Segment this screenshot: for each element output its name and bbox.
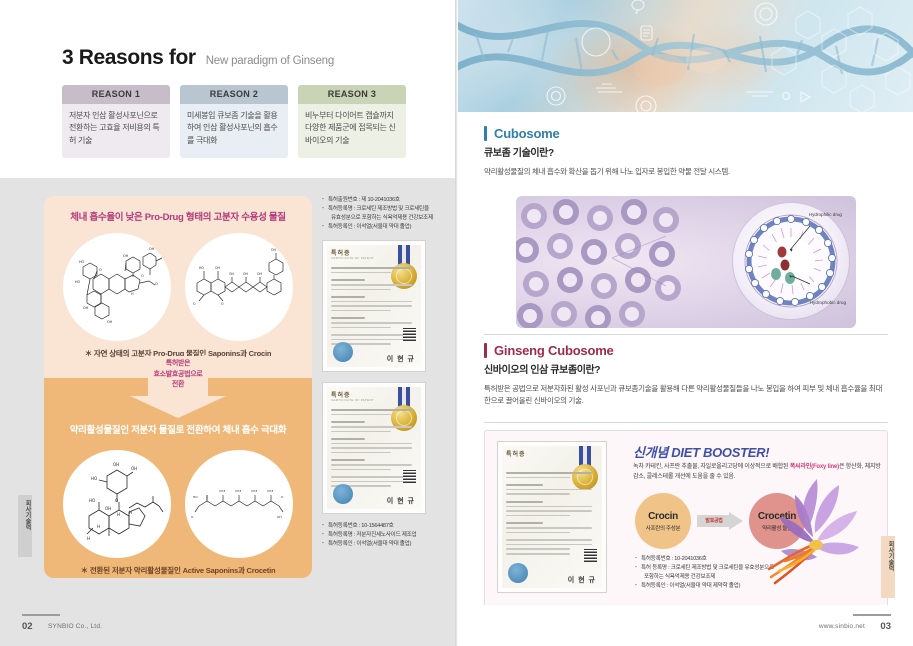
- cubosome-heading-row: Cubosome: [484, 126, 888, 141]
- svg-text:OH: OH: [271, 248, 277, 252]
- crocin-structure-icon: HOOH OHOH OHOH OO: [185, 233, 293, 341]
- patent-bottom-item-1: 특허등록명 : 저분자진세노사이드 제조업: [322, 531, 440, 540]
- svg-text:O: O: [281, 495, 284, 499]
- left-page-content-area: 체내 흡수율이 낮은 Pro-Drug 형태의 고분자 수용성 물질: [0, 178, 456, 605]
- crocin-name: Crocin: [648, 511, 678, 522]
- active-saponin-structure-icon: OHHO OHHO OOH HH HH: [63, 450, 171, 558]
- official-seal-icon-2: [333, 484, 353, 504]
- footer-company-name: SYNBIO Co., Ltd.: [48, 623, 102, 630]
- left-page: 3 Reasons for New paradigm of Ginseng RE…: [0, 0, 456, 646]
- reason-card-1: REASON 1 저분자 인삼 활성사포닌으로 전환하는 고효율 저비용의 특허…: [62, 85, 170, 158]
- side-tab-right: 회사기술력: [881, 536, 895, 598]
- saffron-flower-image: [761, 471, 879, 601]
- crocin-bubble: Crocin 사프란의 주성분: [635, 493, 691, 549]
- reason-card-3: REASON 3 비누부터 다이어트 캡슐까지 다양한 제품군에 접목되는 신바…: [298, 85, 406, 158]
- diet-patent-certificate: 특허증 이 현 규: [497, 441, 607, 593]
- svg-text:CH3: CH3: [219, 489, 225, 493]
- diet-official-seal-icon: [508, 563, 528, 583]
- ginseng-accent-bar: [484, 343, 487, 358]
- molecule-row-bottom: OHHO OHHO OOH HH HH: [44, 440, 312, 576]
- svg-text:O: O: [115, 498, 118, 503]
- diet-booster-title: 신개념 DIET BOOSTER!: [633, 442, 769, 461]
- patent-bullets-bottom: 특허등록번호 : 10-1564487호 특허등록명 : 저분자진세노사이드 제…: [322, 522, 440, 549]
- svg-text:H: H: [87, 536, 90, 541]
- svg-text:OH: OH: [113, 462, 119, 467]
- svg-text:CH3: CH3: [235, 489, 241, 493]
- svg-text:OH: OH: [257, 272, 263, 276]
- foxy-line-highlight: 폭씨라인(Foxy line): [790, 464, 839, 470]
- fermentation-label: 발효공법: [697, 517, 731, 524]
- dna-hero-banner-image: [456, 0, 913, 112]
- conversion-band-title: 약리활성물질인 저분자 물질로 전환하여 체내 흡수 극대화: [44, 422, 312, 436]
- svg-text:H: H: [97, 524, 100, 529]
- section-ginseng-cubosome: Ginseng Cubosome 신바이오의 인삼 큐보좀이란? 특허받은 공법…: [484, 343, 888, 408]
- diet-title-en: DIET BOOSTER!: [671, 445, 769, 460]
- page-number-right: 03: [880, 621, 891, 632]
- svg-text:O: O: [221, 302, 224, 306]
- title-subtitle: New paradigm of Ginseng: [206, 55, 334, 67]
- patent-top-item-1: 특허등록명 : 크로세틴 제조방법 및 크로세틴을: [322, 205, 440, 214]
- certificate-signature-1: 이 현 규: [387, 354, 415, 364]
- conversion-arrow-icon: 특허받은 효소발효공법으로 전환: [130, 356, 226, 418]
- cubosome-heading-kr: 큐보좀 기술이란?: [484, 144, 888, 159]
- diet-title-kr: 신개념: [633, 445, 668, 460]
- svg-text:OH: OH: [131, 466, 137, 471]
- conversion-band-caption: ＊ 전환된 저분자 약리활성물질인 Active Saponins과 Croce…: [44, 565, 312, 576]
- reason-1-body: 저분자 인삼 활성사포닌으로 전환하는 고효율 저비용의 특허 기술: [62, 104, 170, 158]
- ginseng-heading-row: Ginseng Cubosome: [484, 343, 888, 358]
- patent-info-column: 특허출원번호 : 제 10-2041036호 특허등록명 : 크로세틴 제조방법…: [322, 196, 440, 550]
- svg-text:OH: OH: [107, 320, 113, 324]
- certificate-subtitle-2: CERTIFICATE OF PATENT: [331, 398, 374, 402]
- reason-2-heading: REASON 2: [180, 85, 288, 104]
- svg-text:HO: HO: [75, 280, 81, 284]
- patent-certificate-2: 특허증 CERTIFICATE OF PATENT 이 현 규: [322, 382, 426, 514]
- conversion-result-band: 특허받은 효소발효공법으로 전환 약리활성물질인 저분자 물질로 전환하여 체내…: [44, 378, 312, 578]
- patent-bullets-top: 특허출원번호 : 제 10-2041036호 특허등록명 : 크로세틴 제조방법…: [322, 196, 440, 232]
- ginseng-heading-en: Ginseng Cubosome: [494, 343, 614, 358]
- saponin-structure-icon: HOOH OHOH OHO HOO OH: [63, 233, 171, 341]
- certificate-subtitle-1: CERTIFICATE OF PATENT: [331, 256, 374, 260]
- svg-text:OH: OH: [215, 266, 221, 270]
- patent-top-item-3: 특허등록인 : 이석열(서울대 약대 졸업): [322, 223, 440, 232]
- diet-booster-panel: 특허증 이 현 규 신개념: [484, 430, 888, 610]
- svg-text:O: O: [99, 268, 102, 272]
- prodrug-title: 체내 흡수율이 낮은 Pro-Drug 형태의 고분자 수용성 물질: [44, 209, 312, 223]
- svg-text:O: O: [155, 282, 158, 286]
- patent-certificate-1: 특허증 CERTIFICATE OF PATENT 이 현 규: [322, 240, 426, 372]
- patent-bottom-item-0: 특허등록번호 : 10-1564487호: [322, 522, 440, 531]
- divider-1: [484, 334, 888, 335]
- label-hydrophobic-drug: Hydrophobic drug: [810, 300, 846, 306]
- cubosome-accent-bar: [484, 126, 487, 141]
- arrow-label-line3: 전환: [130, 380, 226, 391]
- svg-text:HO: HO: [193, 495, 198, 499]
- divider-2: [484, 422, 888, 423]
- certificate-signature-2: 이 현 규: [387, 496, 415, 506]
- svg-text:CH3: CH3: [251, 489, 257, 493]
- svg-text:HO: HO: [91, 476, 97, 481]
- ginseng-description: 특허받은 공법으로 저분자화된 활성 사포닌과 큐보좀기술을 활용해 다른 약리…: [484, 383, 888, 408]
- section-cubosome: Cubosome 큐보좀 기술이란? 약리활성물질의 체내 흡수와 확산을 돕기…: [484, 126, 888, 178]
- page-number-left: 02: [22, 621, 33, 632]
- patent-bottom-item-2: 특허등록인 : 이석열(서울대 약대 졸업): [322, 540, 440, 549]
- side-tab-left-label: 회사기술력: [18, 495, 32, 530]
- patent-top-item-0: 특허출원번호 : 제 10-2041036호: [322, 196, 440, 205]
- diet-desc-part1: 녹차 카테킨, 사프란 추출물, 자일로올리고당에 이상적으로 배합된: [633, 464, 790, 470]
- label-hydrophilic-drug: Hydrophilic drug: [809, 212, 842, 218]
- diet-certificate-signature: 이 현 규: [568, 575, 596, 585]
- svg-text:H: H: [129, 510, 132, 515]
- patent-top-item-2: 유효성분으로 포함하는 식욕억제용 건강보조제: [322, 214, 440, 223]
- ginseng-heading-kr: 신바이오의 인삼 큐보좀이란?: [484, 361, 888, 376]
- svg-text:HO: HO: [199, 266, 204, 270]
- footer-rule-right: [853, 614, 891, 616]
- brochure-spread: 3 Reasons for New paradigm of Ginseng RE…: [0, 0, 913, 646]
- diet-certificate-title: 특허증: [506, 449, 526, 458]
- qr-code-icon: [403, 328, 416, 341]
- svg-text:H: H: [117, 512, 120, 517]
- page-title: 3 Reasons for New paradigm of Ginseng: [62, 46, 334, 70]
- svg-text:OH: OH: [149, 247, 155, 251]
- svg-text:OH: OH: [105, 506, 111, 511]
- molecule-row-top: HOOH OHOH OHO HOO OH: [44, 233, 312, 341]
- reason-cards: REASON 1 저분자 인삼 활성사포닌으로 전환하는 고효율 저비용의 특허…: [62, 85, 406, 158]
- page-gutter: [455, 0, 458, 646]
- fermentation-arrow-icon: 발효공법: [697, 512, 743, 530]
- right-page-footer: 03 www.sinbio.net: [456, 605, 913, 646]
- official-seal-icon: [333, 342, 353, 362]
- crocin-subtitle: 사프란의 주성분: [646, 524, 681, 532]
- svg-text:HO: HO: [89, 498, 95, 503]
- footer-rule-left: [22, 614, 60, 616]
- left-page-footer: 02 SYNBIO Co., Ltd.: [0, 605, 456, 646]
- diet-certificate-lines: [506, 472, 598, 558]
- footer-website-url: www.sinbio.net: [819, 623, 865, 630]
- svg-text:HO: HO: [79, 260, 85, 264]
- svg-text:O: O: [141, 274, 144, 278]
- reason-2-body: 미세봉입 큐보좀 기술을 활용하여 인삼 활성사포닌의 흡수를 극대화: [180, 104, 288, 158]
- arrow-label-line2: 효소발효공법으로: [130, 370, 226, 381]
- svg-text:OH: OH: [123, 254, 129, 258]
- cubosome-description: 약리활성물질의 체내 흡수와 확산을 돕기 위해 나노 입자로 봉입한 약물 전…: [484, 166, 888, 178]
- side-tab-left: 회사기술력: [18, 495, 32, 557]
- reason-1-heading: REASON 1: [62, 85, 170, 104]
- svg-text:OH: OH: [243, 272, 249, 276]
- left-page-header: 3 Reasons for New paradigm of Ginseng RE…: [0, 0, 456, 178]
- svg-text:OH: OH: [277, 515, 282, 519]
- cubosome-heading-en: Cubosome: [494, 126, 560, 141]
- side-tab-right-label: 회사기술력: [881, 536, 895, 571]
- reason-3-body: 비누부터 다이어트 캡슐까지 다양한 제품군에 접목되는 신바이오의 기술: [298, 104, 406, 158]
- svg-text:H: H: [131, 292, 134, 296]
- diet-qr-code-icon: [584, 549, 597, 562]
- svg-text:O: O: [193, 302, 196, 306]
- prodrug-conversion-diagram: 체내 흡수율이 낮은 Pro-Drug 형태의 고분자 수용성 물질: [44, 196, 312, 578]
- cubosome-diagram-image: Hydrophilic drug Hydrophobic drug: [516, 196, 856, 328]
- reason-card-2: REASON 2 미세봉입 큐보좀 기술을 활용하여 인삼 활성사포닌의 흡수를…: [180, 85, 288, 158]
- arrow-label-line1: 특허받은: [130, 359, 226, 370]
- svg-text:CH3: CH3: [267, 489, 273, 493]
- title-main: 3 Reasons for: [62, 46, 196, 70]
- svg-text:O: O: [191, 515, 194, 519]
- svg-text:OH: OH: [229, 272, 235, 276]
- qr-code-icon-2: [403, 470, 416, 483]
- crocetin-structure-icon: HOCH3 CH3CH3 CH3OH OO: [185, 450, 293, 558]
- reason-3-heading: REASON 3: [298, 85, 406, 104]
- svg-text:OH: OH: [83, 306, 89, 310]
- right-page: Cubosome 큐보좀 기술이란? 약리활성물질의 체내 흡수와 확산을 돕기…: [456, 0, 913, 646]
